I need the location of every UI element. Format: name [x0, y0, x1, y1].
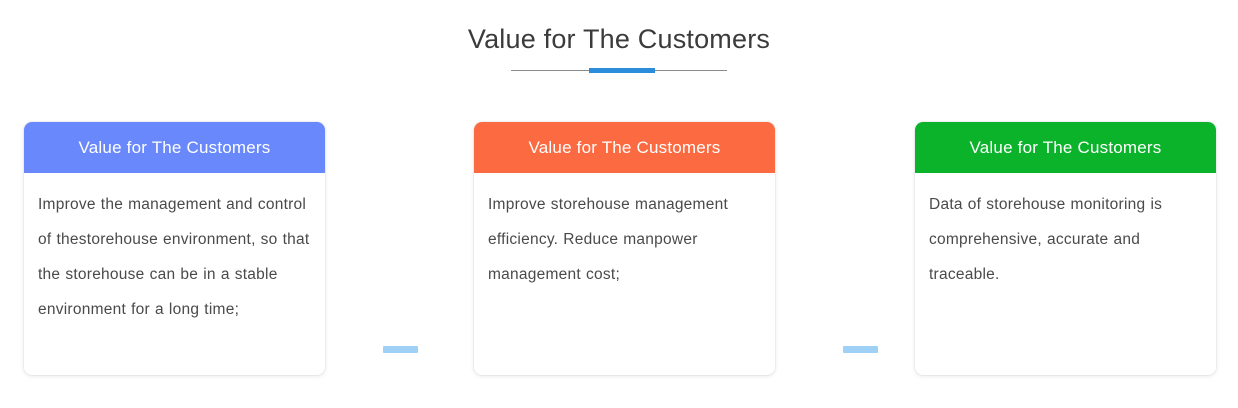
section-header: Value for The Customers — [0, 22, 1238, 74]
connector-card1-card2 — [383, 346, 418, 353]
value-card-1[interactable]: Value for The Customers Improve the mana… — [24, 122, 325, 375]
value-for-customers-section: Value for The Customers Value for The Cu… — [0, 0, 1238, 408]
card-1-header: Value for The Customers — [24, 122, 325, 173]
card-3-text: Data of storehouse monitoring is compreh… — [929, 187, 1202, 292]
page-title: Value for The Customers — [0, 22, 1238, 56]
value-card-2[interactable]: Value for The Customers Improve storehou… — [474, 122, 775, 375]
card-2-body: Improve storehouse management efficiency… — [474, 173, 775, 302]
card-2-header: Value for The Customers — [474, 122, 775, 173]
cards-row: Value for The Customers Improve the mana… — [0, 122, 1238, 380]
connector-card2-card3 — [843, 346, 878, 353]
value-card-3[interactable]: Value for The Customers Data of storehou… — [915, 122, 1216, 375]
card-1-text: Improve the management and control of th… — [38, 187, 311, 327]
card-3-header: Value for The Customers — [915, 122, 1216, 173]
card-2-text: Improve storehouse management efficiency… — [488, 187, 761, 292]
card-3-body: Data of storehouse monitoring is compreh… — [915, 173, 1216, 302]
title-divider — [511, 68, 727, 74]
divider-accent — [589, 68, 655, 73]
card-1-body: Improve the management and control of th… — [24, 173, 325, 337]
